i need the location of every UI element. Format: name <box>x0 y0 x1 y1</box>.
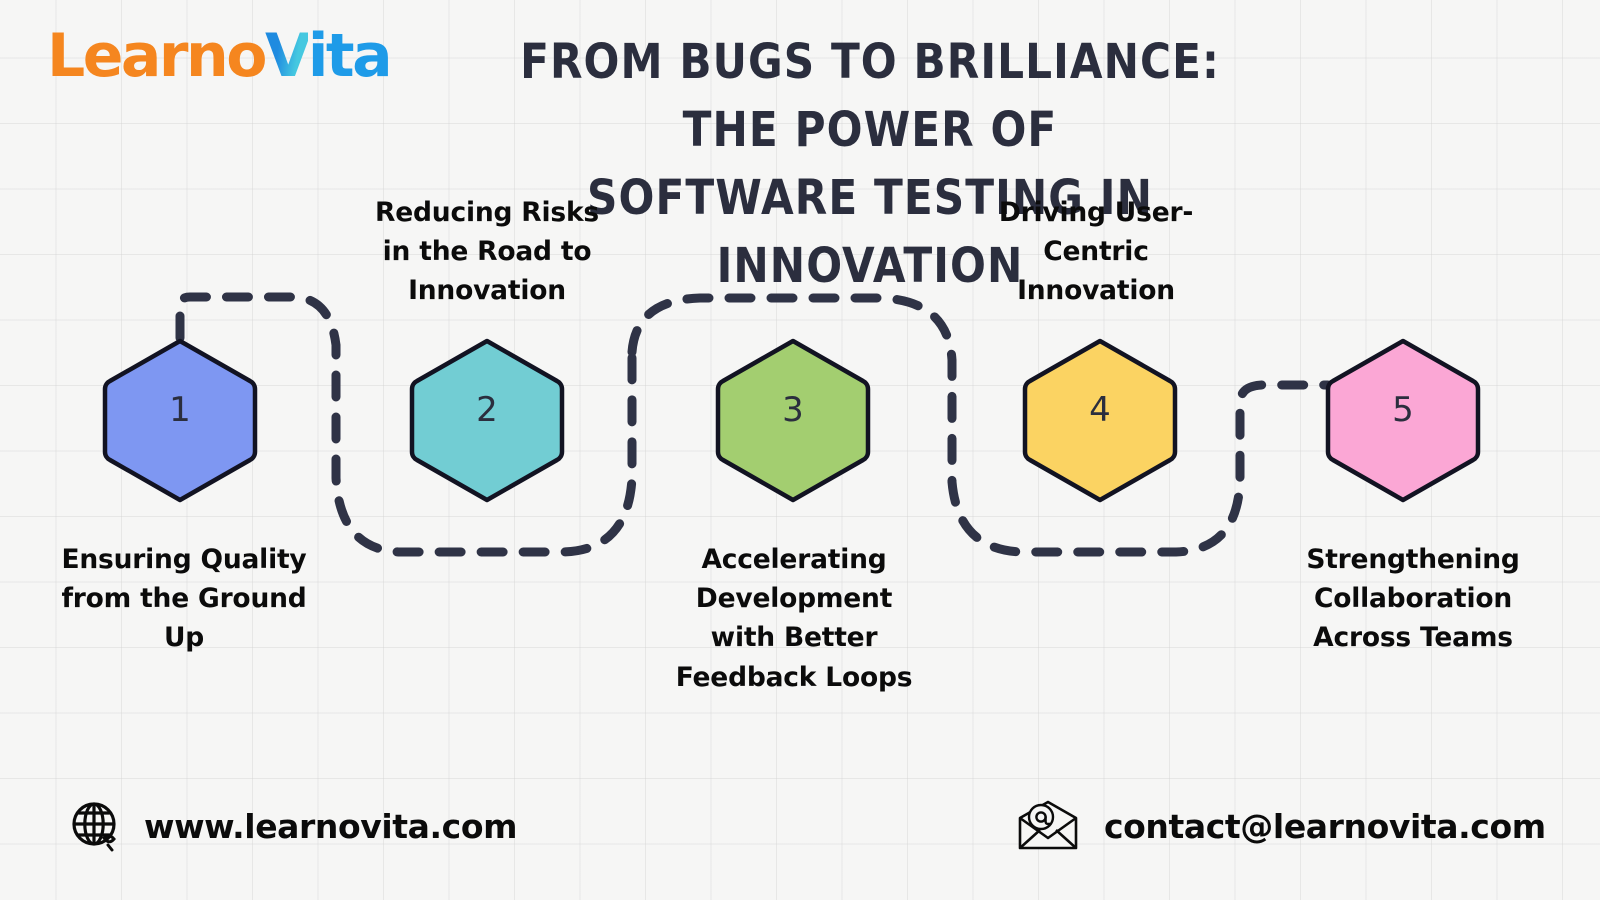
hexagon-group: 1 2 3 4 5 <box>105 341 1478 500</box>
globe-icon <box>70 800 122 852</box>
footer-website-text: www.learnovita.com <box>144 807 517 846</box>
footer-website[interactable]: www.learnovita.com <box>70 800 517 852</box>
footer-email[interactable]: contact@learnovita.com <box>1014 800 1546 852</box>
step-node-3[interactable]: 3 <box>718 341 868 500</box>
step-label-5: Strengthening Collaboration Across Teams <box>1288 540 1538 658</box>
footer-email-text: contact@learnovita.com <box>1104 807 1546 846</box>
hexagon-1-number: 1 <box>169 390 191 430</box>
step-node-4[interactable]: 4 <box>1025 341 1175 500</box>
step-label-2: Reducing Risks in the Road to Innovation <box>363 193 611 311</box>
flow-diagram: 1 2 3 4 5 <box>0 0 1600 900</box>
step-label-4: Driving User-Centric Innovation <box>971 193 1221 311</box>
envelope-at-icon <box>1014 800 1082 852</box>
hexagon-3-number: 3 <box>782 390 804 430</box>
step-label-1: Ensuring Quality from the Ground Up <box>60 540 308 658</box>
hexagon-5-number: 5 <box>1392 390 1414 430</box>
step-node-1[interactable]: 1 <box>105 341 255 500</box>
hexagon-4-number: 4 <box>1089 390 1111 430</box>
step-node-5[interactable]: 5 <box>1328 341 1478 500</box>
step-node-2[interactable]: 2 <box>412 341 562 500</box>
step-label-3: Accelerating Development with Better Fee… <box>668 540 920 697</box>
hexagon-2-number: 2 <box>476 390 498 430</box>
